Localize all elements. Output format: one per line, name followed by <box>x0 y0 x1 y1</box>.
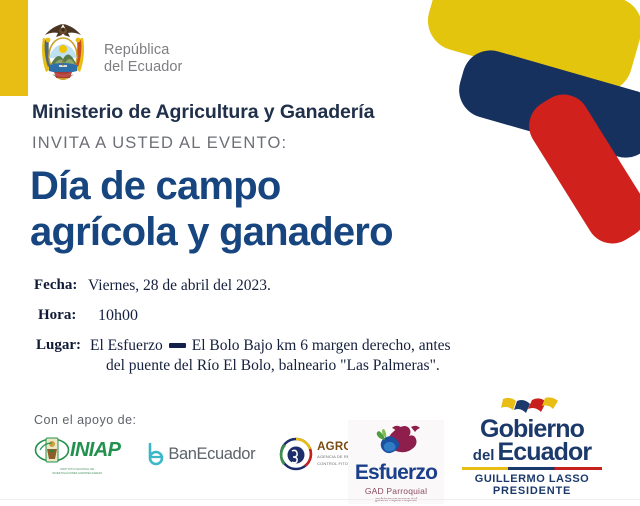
flag-ribbons-decoration <box>400 0 640 210</box>
fecha-label: Fecha: <box>34 276 88 294</box>
iniap-emblem-icon <box>34 433 70 467</box>
support-label: Con el apoyo de: <box>34 413 137 427</box>
iniap-wordmark: INIAP <box>70 439 120 462</box>
logo-iniap: INIAP INSTITUTO NACIONAL DE INVESTIGACIO… <box>34 433 120 476</box>
invitation-subtitle: INVITA A USTED AL EVENTO: <box>32 134 287 153</box>
title-line-1: Día de campo <box>30 163 393 209</box>
lugar-part-3: del puente del Río El Bolo, balneario "L… <box>90 356 451 376</box>
lugar-part-2: El Bolo Bajo km 6 margen derecho, antes <box>192 337 451 354</box>
detail-row-fecha: Fecha: Viernes, 28 de abril del 2023. <box>34 276 451 296</box>
event-invitation-poster: República del Ecuador Ministerio de Agri… <box>0 0 640 506</box>
bottom-divider <box>0 499 640 500</box>
detail-row-hora: Hora: 10h00 <box>34 306 451 326</box>
yellow-accent-bar <box>0 0 28 96</box>
gobierno-ecuador-text: Ecuador <box>497 440 591 465</box>
banecuador-wordmark: BanEcuador <box>168 445 255 464</box>
gobierno-tricolor-rule <box>462 467 602 470</box>
lugar-label: Lugar: <box>36 336 90 354</box>
esfuerzo-subtext: GAD Parroquial <box>365 486 427 496</box>
institutional-header: República del Ecuador <box>32 18 183 96</box>
banecuador-b-icon <box>144 442 166 466</box>
iniap-mark: INIAP <box>34 433 120 467</box>
fecha-value: Viernes, 28 de abril del 2023. <box>88 276 271 296</box>
esfuerzo-subtext-2: gobiernoparroquial <box>375 497 417 503</box>
lugar-value: El EsfuerzoEl Bolo Bajo km 6 margen dere… <box>90 336 451 376</box>
page-title: Día de campo agrícola y ganadero <box>30 163 393 256</box>
ribbon-blue-shape <box>453 44 640 164</box>
republic-line-1: República <box>104 42 183 59</box>
hora-value: 10h00 <box>92 306 138 326</box>
gobierno-line-2: del Ecuador <box>448 440 616 465</box>
event-details: Fecha: Viernes, 28 de abril del 2023. Ho… <box>34 276 451 386</box>
logo-banecuador: BanEcuador <box>144 442 255 466</box>
ribbon-yellow-shape <box>421 0 640 99</box>
iniap-subtext: INSTITUTO NACIONAL DE INVESTIGACIONES AG… <box>52 468 102 476</box>
ecuador-coat-of-arms-icon <box>32 18 94 96</box>
lugar-part-1: El Esfuerzo <box>90 337 163 354</box>
esfuerzo-wordmark: Esfuerzo <box>355 461 437 485</box>
agrocalidad-emblem-icon <box>279 437 313 471</box>
title-line-2: agrícola y ganadero <box>30 209 393 255</box>
detail-row-lugar: Lugar: El EsfuerzoEl Bolo Bajo km 6 marg… <box>34 336 451 376</box>
gobierno-del-text: del <box>473 449 495 464</box>
logo-gobierno-del-ecuador: Gobierno del Ecuador GUILLERMO LASSO PRE… <box>448 396 616 497</box>
republic-label: República del Ecuador <box>104 38 183 76</box>
logo-esfuerzo: Esfuerzo GAD Parroquial gobiernoparroqui… <box>348 420 444 504</box>
president-role: PRESIDENTE <box>448 485 616 497</box>
dash-separator-icon <box>169 343 186 348</box>
gobierno-flag-check-icon <box>501 396 563 416</box>
ribbon-red-shape <box>519 85 640 254</box>
president-name: GUILLERMO LASSO <box>448 473 616 485</box>
iniap-subtext-line-2: INVESTIGACIONES AGROPECUARIAS <box>52 472 102 476</box>
ministry-title: Ministerio de Agricultura y Ganadería <box>32 101 374 124</box>
republic-line-2: del Ecuador <box>104 59 183 76</box>
esfuerzo-bull-icon <box>365 423 427 463</box>
hora-label: Hora: <box>38 306 92 324</box>
